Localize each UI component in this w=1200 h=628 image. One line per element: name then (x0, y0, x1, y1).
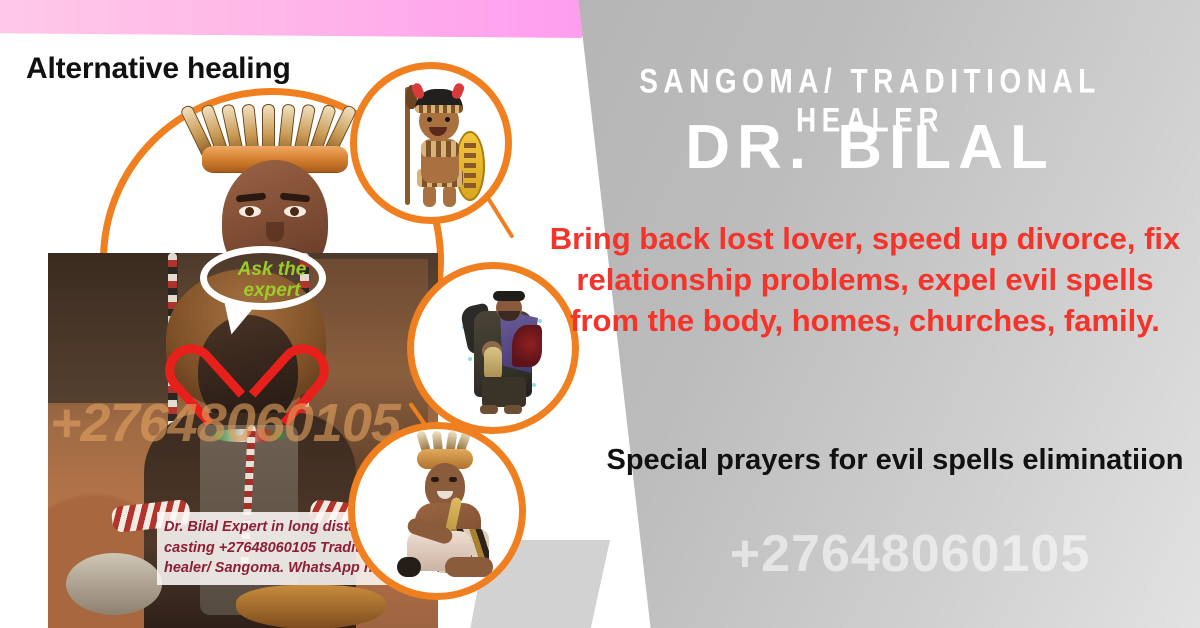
special-offer-text: Special prayers for evil spells eliminat… (600, 442, 1190, 480)
warrior-with-shield-icon (350, 62, 512, 224)
spear-icon (405, 87, 410, 205)
contact-phone-large: +27648060105 (620, 524, 1200, 584)
speech-bubble-tail (222, 304, 255, 337)
photo-watermark-phone: +27648060105 (50, 392, 400, 454)
hut-background (48, 253, 178, 403)
shield-icon (455, 131, 485, 201)
clay-pot (66, 553, 162, 615)
crouching-warrior-icon (348, 422, 526, 600)
poster-canvas: Alternative healing (0, 0, 1200, 628)
speech-bubble-text: Ask the expert (217, 259, 327, 302)
gourd-bowl (236, 585, 386, 628)
top-left-pink-bar (0, 0, 600, 38)
services-text: Bring back lost lover, speed up divorce,… (545, 218, 1185, 342)
page-title: Alternative healing (26, 52, 291, 86)
speech-bubble: Ask the expert (200, 246, 326, 310)
healer-name: DR. BILAL (565, 112, 1175, 183)
